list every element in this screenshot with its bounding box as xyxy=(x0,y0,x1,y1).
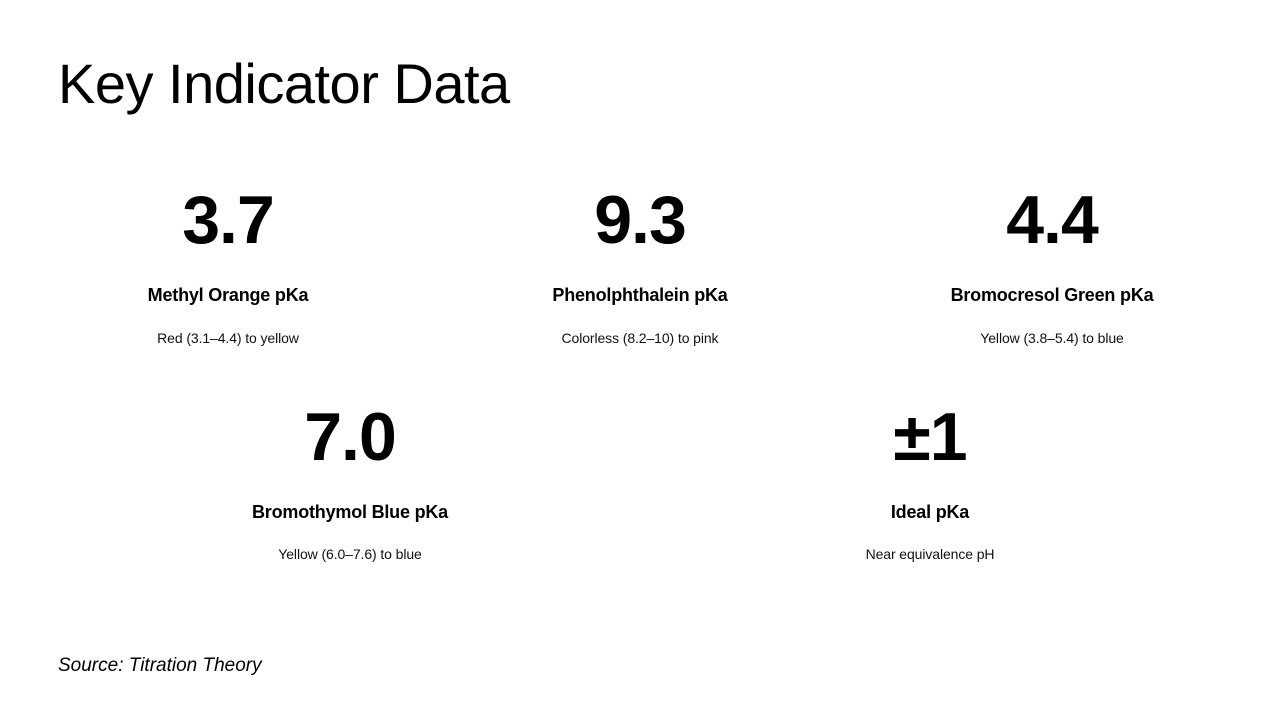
stat-description: Near equivalence pH xyxy=(866,545,995,563)
stat-description: Colorless (8.2–10) to pink xyxy=(562,329,719,347)
stat-label: Methyl Orange pKa xyxy=(148,284,309,307)
stat-value: 3.7 xyxy=(182,186,274,254)
stats-row-one: 3.7 Methyl Orange pKa Red (3.1–4.4) to y… xyxy=(58,186,1222,347)
stats-row-two: 7.0 Bromothymol Blue pKa Yellow (6.0–7.6… xyxy=(58,403,1222,564)
stat-card: 3.7 Methyl Orange pKa Red (3.1–4.4) to y… xyxy=(58,186,398,347)
stat-card: 9.3 Phenolphthalein pKa Colorless (8.2–1… xyxy=(470,186,810,347)
page-title: Key Indicator Data xyxy=(58,53,510,115)
stat-description: Red (3.1–4.4) to yellow xyxy=(157,329,299,347)
stat-label: Ideal pKa xyxy=(891,501,969,524)
stat-value: 4.4 xyxy=(1006,186,1098,254)
stat-value: ±1 xyxy=(893,403,966,471)
stat-label: Bromothymol Blue pKa xyxy=(252,501,448,524)
stat-description: Yellow (3.8–5.4) to blue xyxy=(980,329,1123,347)
source-caption: Source: Titration Theory xyxy=(58,655,262,677)
stat-label: Bromocresol Green pKa xyxy=(951,284,1154,307)
stat-value: 9.3 xyxy=(594,186,686,254)
stat-value: 7.0 xyxy=(304,403,396,471)
stat-card: ±1 Ideal pKa Near equivalence pH xyxy=(760,403,1100,564)
stat-card: 4.4 Bromocresol Green pKa Yellow (3.8–5.… xyxy=(882,186,1222,347)
stat-card: 7.0 Bromothymol Blue pKa Yellow (6.0–7.6… xyxy=(180,403,520,564)
slide-root: Key Indicator Data 3.7 Methyl Orange pKa… xyxy=(0,0,1280,720)
stats-grid: 3.7 Methyl Orange pKa Red (3.1–4.4) to y… xyxy=(58,186,1222,563)
stat-label: Phenolphthalein pKa xyxy=(552,284,727,307)
stat-description: Yellow (6.0–7.6) to blue xyxy=(278,545,421,563)
